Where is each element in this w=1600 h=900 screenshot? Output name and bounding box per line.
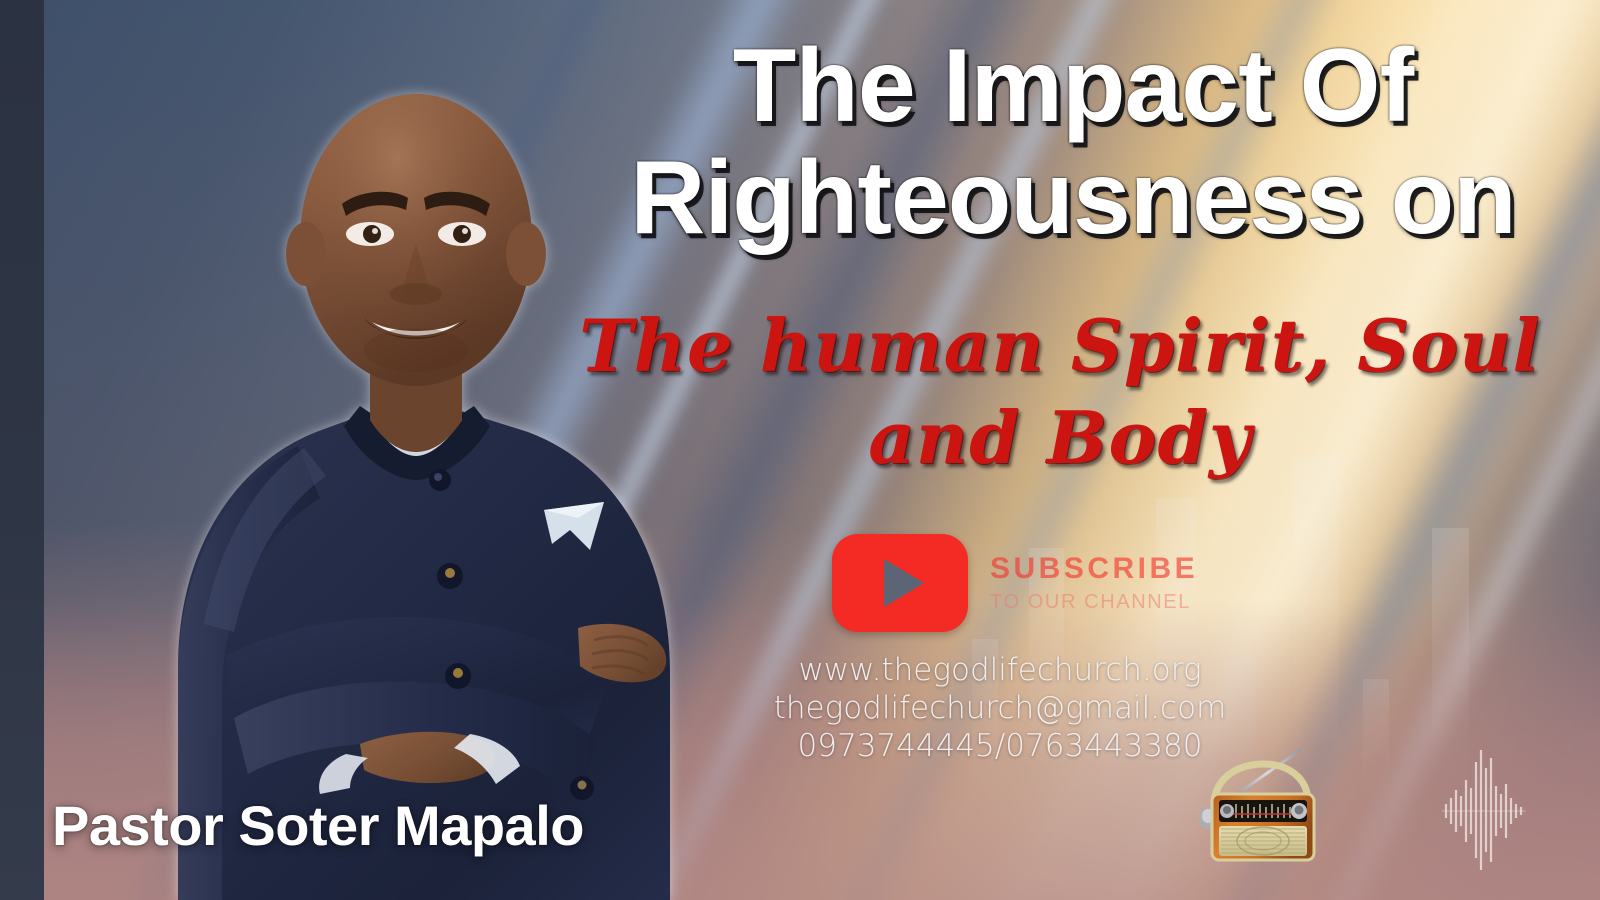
subscribe-text: SUBSCRIBE TO OUR CHANNEL — [990, 554, 1198, 612]
left-edge-strip — [0, 0, 44, 900]
subscribe-callout[interactable]: SUBSCRIBE TO OUR CHANNEL — [832, 534, 1198, 632]
poster-title: The Impact Of Righteousness on — [568, 34, 1578, 250]
title-line-2: Righteousness on — [568, 146, 1578, 250]
contact-website[interactable]: www.thegodlifechurch.org — [700, 652, 1300, 690]
title-line-1: The Impact Of — [568, 34, 1578, 138]
contact-email[interactable]: thegodlifechurch@gmail.com — [700, 690, 1300, 728]
subscribe-sublabel: TO OUR CHANNEL — [990, 592, 1198, 612]
subtitle-line-2: and Body — [540, 392, 1580, 484]
youtube-play-icon[interactable] — [832, 534, 968, 632]
subtitle-line-1: The human Spirit, Soul — [540, 300, 1580, 392]
poster-subtitle: The human Spirit, Soul and Body — [540, 300, 1580, 484]
subscribe-label: SUBSCRIBE — [990, 554, 1198, 584]
vintage-radio-icon — [1196, 736, 1332, 866]
poster-canvas: The Impact Of Righteousness on The human… — [0, 0, 1600, 900]
play-triangle-icon — [884, 559, 924, 607]
audio-waveform-icon — [1428, 746, 1536, 874]
speaker-name: Pastor Soter Mapalo — [52, 793, 584, 858]
